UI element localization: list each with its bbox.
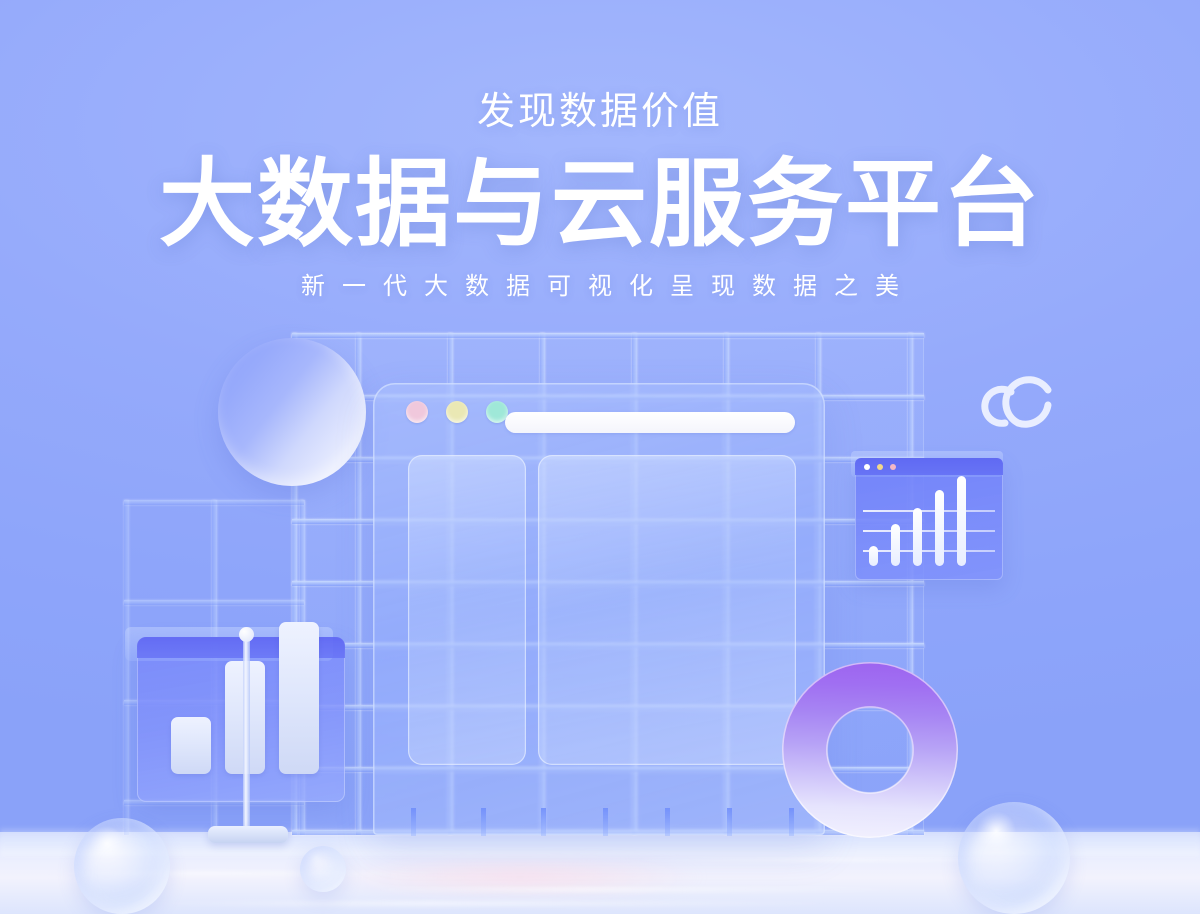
- mini-bar-3: [913, 508, 922, 566]
- close-dot[interactable]: [864, 464, 870, 470]
- glass-sphere-mid: [300, 846, 346, 892]
- floor-streak: [360, 888, 920, 891]
- lattice-bar-h: [292, 333, 924, 338]
- browser-titlebar: [373, 383, 825, 445]
- eyebrow-text: 发现数据价值: [0, 93, 1200, 131]
- hero-copy: 发现数据价值 大数据与云服务平台 新一代大数据可视化呈现数据之美: [0, 0, 1200, 299]
- maximize-dot[interactable]: [890, 464, 896, 470]
- hero-banner: 发现数据价值 大数据与云服务平台 新一代大数据可视化呈现数据之美: [0, 0, 1200, 914]
- mini-bar-1: [869, 546, 878, 566]
- close-dot[interactable]: [406, 401, 428, 423]
- bar-3: [279, 622, 319, 774]
- minimize-dot[interactable]: [877, 464, 883, 470]
- analytics-mini-window[interactable]: [855, 458, 1003, 580]
- base-tick: [665, 808, 670, 836]
- lattice-bar-v: [124, 500, 129, 835]
- bar-1: [171, 717, 211, 774]
- stand-cap: [239, 627, 254, 642]
- floor-streak: [150, 902, 850, 905]
- address-bar[interactable]: [505, 412, 795, 433]
- glass-sphere-left: [74, 818, 170, 914]
- glass-disc: [218, 338, 366, 486]
- stand-pole: [243, 634, 250, 834]
- gradient-torus: [782, 662, 958, 838]
- base-tick: [411, 808, 416, 836]
- lattice-bar-h: [124, 600, 304, 605]
- mini-gridline: [863, 530, 995, 532]
- glass-sphere-right: [958, 802, 1070, 914]
- mini-bar-4: [935, 490, 944, 566]
- stand-base: [208, 826, 288, 843]
- base-tick: [603, 808, 608, 836]
- base-tick: [541, 808, 546, 836]
- mini-gridline: [863, 510, 995, 512]
- base-tick: [481, 808, 486, 836]
- cloud-icon: [975, 363, 1067, 431]
- mini-bar-5: [957, 476, 966, 566]
- bar-chart-card[interactable]: [137, 637, 345, 802]
- lattice-bar-h: [124, 500, 304, 505]
- mini-titlebar: [855, 458, 1003, 475]
- base-tick: [727, 808, 732, 836]
- mini-bar-2: [891, 524, 900, 566]
- minimize-dot[interactable]: [446, 401, 468, 423]
- mini-gridline: [863, 550, 995, 552]
- page-title: 大数据与云服务平台: [0, 157, 1200, 253]
- browser-mockup[interactable]: [373, 383, 825, 835]
- tagline-text: 新一代大数据可视化呈现数据之美: [0, 275, 1200, 299]
- base-tick: [789, 808, 794, 836]
- sidebar-panel[interactable]: [408, 455, 526, 765]
- content-panel[interactable]: [538, 455, 796, 765]
